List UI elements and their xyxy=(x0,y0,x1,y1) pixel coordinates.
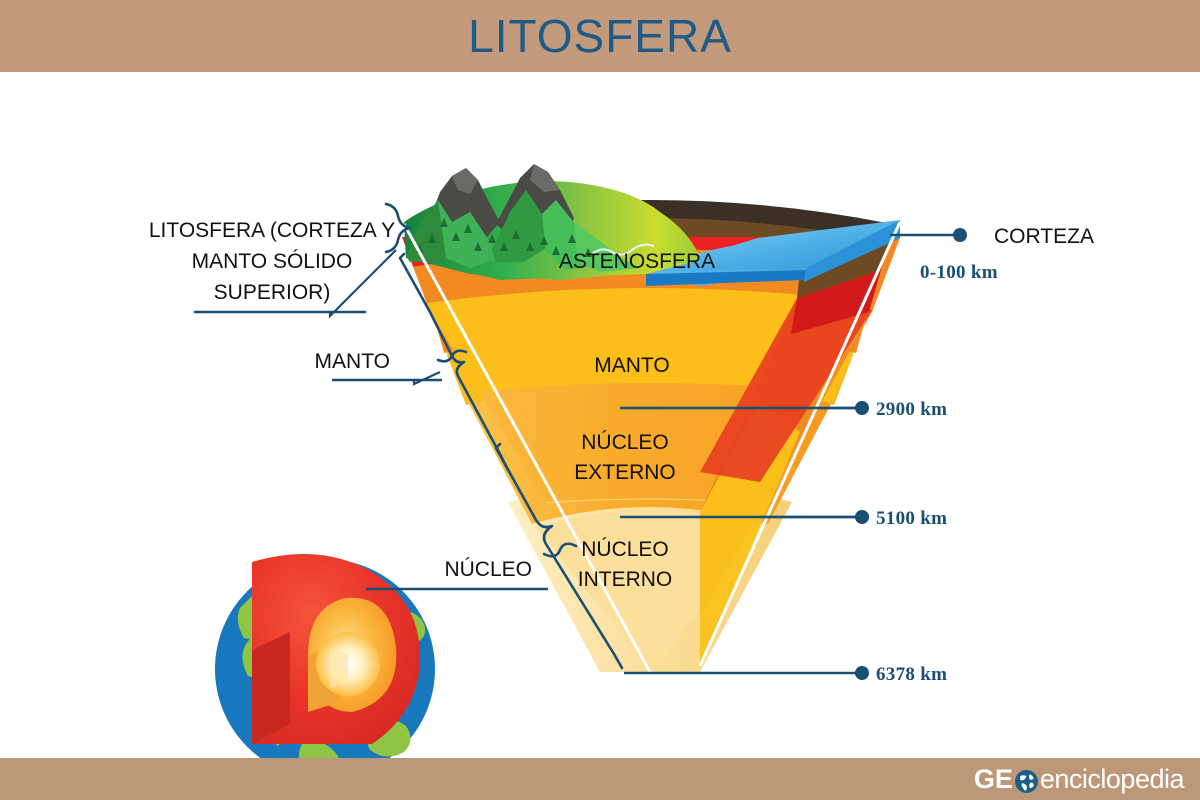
earth-globe: TIERRA xyxy=(215,554,435,758)
inner-label-manto: MANTO xyxy=(594,354,669,377)
callout-litosfera: LITOSFERA (CORTEZA Y MANTO SÓLIDO SUPERI… xyxy=(149,204,410,316)
depth-6378-label: 6378 km xyxy=(876,664,947,685)
corteza-label: CORTEZA xyxy=(994,225,1094,248)
litosfera-label-line1: LITOSFERA (CORTEZA Y xyxy=(149,219,395,242)
nucleo-label: NÚCLEO xyxy=(444,558,532,581)
inner-label-nucleo-externo-line1: NÚCLEO xyxy=(581,431,669,454)
inner-label-nucleo-interno-line2: INTERNO xyxy=(578,568,673,591)
inner-label-nucleo-externo-line2: EXTERNO xyxy=(574,461,676,484)
callout-corteza: CORTEZA 0-100 km xyxy=(890,225,1094,283)
brand-suffix: enciclopedia xyxy=(1040,766,1184,793)
manto-label: MANTO xyxy=(315,350,390,373)
inner-label-astenosfera: ASTENOSFERA xyxy=(559,250,715,273)
globe-inner-core-face xyxy=(330,648,348,688)
page-title: LITOSFERA xyxy=(468,13,732,59)
corteza-depth: 0-100 km xyxy=(920,262,998,283)
brand-logo: GE enciclopedia xyxy=(974,760,1184,798)
depth-2900-label: 2900 km xyxy=(876,399,947,420)
depth-6378-dot xyxy=(855,666,869,680)
infographic-page: LITOSFERA xyxy=(0,0,1200,800)
header-bar: LITOSFERA xyxy=(0,0,1200,72)
inner-label-nucleo-interno-line1: NÚCLEO xyxy=(581,538,669,561)
brand-prefix: GE xyxy=(974,766,1013,793)
globe-icon xyxy=(1014,769,1039,794)
litosfera-label-line2: MANTO SÓLIDO xyxy=(192,250,353,273)
depth-5100-label: 5100 km xyxy=(876,508,947,529)
depth-2900-dot xyxy=(855,401,869,415)
depth-5100-dot xyxy=(855,510,869,524)
manto-leader xyxy=(414,372,440,384)
earth-cross-section-diagram: TIERRA LITOSFERA (CORTEZA Y MANTO SÓLIDO… xyxy=(0,72,1200,758)
corteza-dot xyxy=(953,228,967,242)
litosfera-label-line3: SUPERIOR) xyxy=(214,281,331,304)
